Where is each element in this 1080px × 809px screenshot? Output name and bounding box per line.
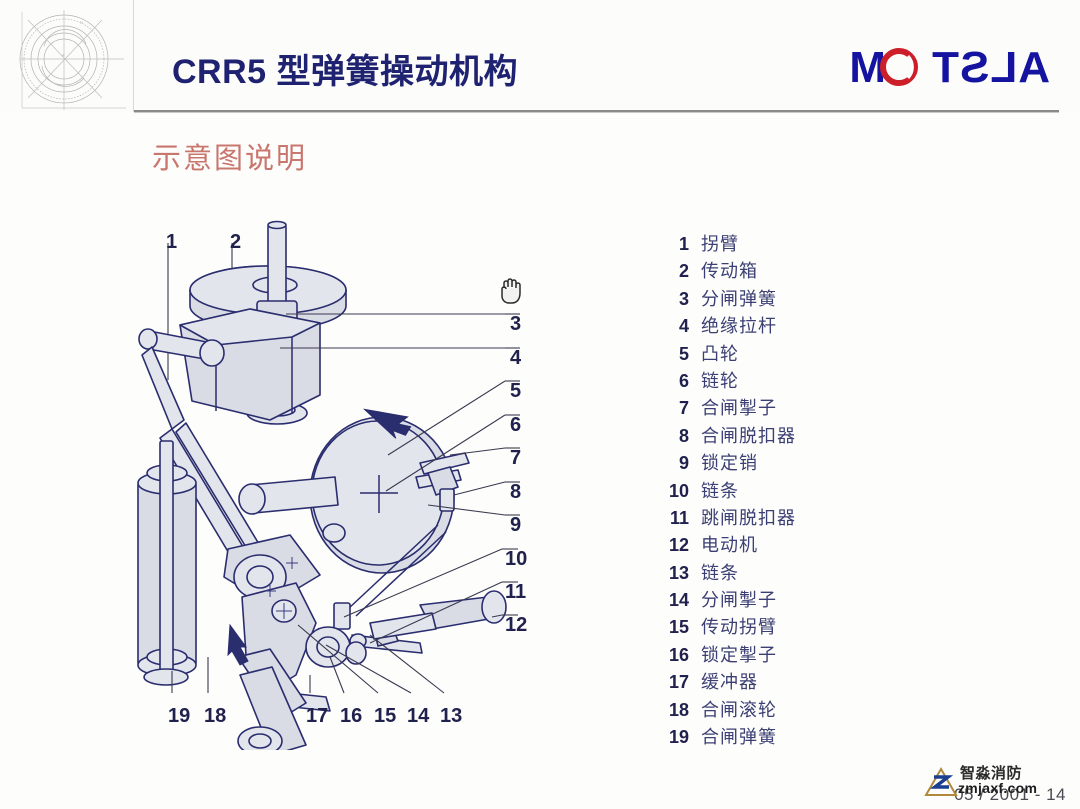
legend-label: 链条 bbox=[701, 477, 739, 503]
header-divider bbox=[134, 110, 1059, 113]
legend-number: 4 bbox=[655, 316, 689, 337]
callout-19: 19 bbox=[168, 706, 190, 726]
legend-label: 分闸掣子 bbox=[701, 586, 777, 612]
part-motor bbox=[370, 591, 506, 639]
legend-number: 1 bbox=[655, 234, 689, 255]
legend-number: 16 bbox=[655, 645, 689, 666]
callout-11: 11 bbox=[505, 582, 526, 602]
callout-2: 2 bbox=[230, 232, 241, 252]
legend-label: 电动机 bbox=[701, 531, 758, 557]
mechanism-diagram: .pc { fill:#d9dbe5; stroke:#2a2d6e; stro… bbox=[120, 205, 660, 750]
legend-number: 5 bbox=[655, 344, 689, 365]
legend-label: 合闸掣子 bbox=[701, 394, 777, 420]
legend-label: 凸轮 bbox=[701, 340, 739, 366]
legend-item-3: 3 分闸弹簧 bbox=[655, 285, 915, 312]
legend-item-8: 8 合闸脱扣器 bbox=[655, 422, 915, 449]
callout-13: 13 bbox=[440, 706, 462, 726]
legend-label: 链轮 bbox=[701, 367, 739, 393]
title-rest: 型弹簧操动机构 bbox=[267, 53, 518, 91]
part-closing-spring-cylinder bbox=[138, 441, 196, 685]
legend-item-11: 11 跳闸脱扣器 bbox=[655, 504, 915, 531]
legend-label: 合闸脱扣器 bbox=[701, 422, 796, 448]
callout-8: 8 bbox=[510, 482, 521, 502]
legend-label: 绝缘拉杆 bbox=[701, 312, 777, 338]
callout-3: 3 bbox=[510, 314, 521, 334]
legend-item-18: 18 合闸滚轮 bbox=[655, 696, 915, 723]
callout-14: 14 bbox=[407, 706, 429, 726]
section-subtitle: 示意图说明 bbox=[152, 135, 307, 177]
slide-root: R ø CRR5 型弹簧操动机构 ALST M 示意图说明 .pc { fill… bbox=[0, 0, 1080, 809]
legend-number: 12 bbox=[655, 535, 689, 556]
callout-12: 12 bbox=[505, 615, 527, 635]
callout-4: 4 bbox=[510, 348, 521, 368]
callout-6: 6 bbox=[510, 415, 521, 435]
callout-18: 18 bbox=[204, 706, 226, 726]
legend-number: 10 bbox=[655, 481, 689, 502]
legend-number: 17 bbox=[655, 672, 689, 693]
callout-10: 10 bbox=[505, 549, 527, 569]
legend-number: 15 bbox=[655, 617, 689, 638]
legend-number: 3 bbox=[655, 289, 689, 310]
svg-text:R: R bbox=[80, 20, 83, 25]
legend-item-1: 1 拐臂 bbox=[655, 230, 915, 257]
mechanism-diagram-svg: .pc { fill:#d9dbe5; stroke:#2a2d6e; stro… bbox=[120, 205, 660, 750]
legend-item-13: 13 链条 bbox=[655, 559, 915, 586]
svg-text:ø: ø bbox=[62, 52, 65, 57]
parts-legend: 1 拐臂 2 传动箱 3 分闸弹簧 4 绝缘拉杆 5 凸轮 6 链轮 7 合闸掣… bbox=[655, 230, 915, 750]
legend-item-16: 16 锁定掣子 bbox=[655, 641, 915, 668]
legend-item-6: 6 链轮 bbox=[655, 367, 915, 394]
legend-number: 8 bbox=[655, 426, 689, 447]
grabbing-hand-cursor-icon bbox=[498, 274, 526, 306]
callout-9: 9 bbox=[510, 515, 521, 535]
site-watermark: 智淼消防 zmjaxf.com bbox=[924, 761, 1072, 801]
technical-circle-drawing-icon: R ø bbox=[6, 4, 134, 116]
callout-16: 16 bbox=[340, 706, 362, 726]
legend-item-15: 15 传动拐臂 bbox=[655, 613, 915, 640]
part-gearbox-body bbox=[180, 309, 320, 420]
legend-label: 合闸弹簧 bbox=[701, 723, 777, 749]
legend-number: 18 bbox=[655, 700, 689, 721]
legend-item-4: 4 绝缘拉杆 bbox=[655, 312, 915, 339]
alstom-logo: ALST M bbox=[804, 38, 1054, 96]
legend-label: 传动箱 bbox=[701, 257, 758, 283]
legend-label: 传动拐臂 bbox=[701, 613, 777, 639]
legend-label: 缓冲器 bbox=[701, 668, 758, 694]
legend-item-14: 14 分闸掣子 bbox=[655, 586, 915, 613]
legend-label: 链条 bbox=[701, 559, 739, 585]
legend-label: 锁定掣子 bbox=[701, 641, 777, 667]
legend-item-2: 2 传动箱 bbox=[655, 257, 915, 284]
callout-15: 15 bbox=[374, 706, 396, 726]
legend-number: 14 bbox=[655, 590, 689, 611]
legend-label: 跳闸脱扣器 bbox=[701, 504, 796, 530]
legend-item-9: 9 锁定销 bbox=[655, 449, 915, 476]
callout-5: 5 bbox=[510, 381, 521, 401]
legend-number: 9 bbox=[655, 453, 689, 474]
callout-17: 17 bbox=[306, 706, 328, 726]
legend-item-17: 17 缓冲器 bbox=[655, 668, 915, 695]
legend-number: 6 bbox=[655, 371, 689, 392]
legend-label: 锁定销 bbox=[701, 449, 758, 475]
legend-item-5: 5 凸轮 bbox=[655, 340, 915, 367]
watermark-url: zmjaxf.com bbox=[958, 780, 1037, 796]
callout-1: 1 bbox=[166, 232, 177, 252]
legend-label: 拐臂 bbox=[701, 230, 739, 256]
legend-item-19: 19 合闸弹簧 bbox=[655, 723, 915, 750]
legend-number: 7 bbox=[655, 398, 689, 419]
legend-item-12: 12 电动机 bbox=[655, 531, 915, 558]
legend-number: 2 bbox=[655, 261, 689, 282]
legend-number: 13 bbox=[655, 563, 689, 584]
legend-number: 19 bbox=[655, 727, 689, 748]
slide-header: R ø CRR5 型弹簧操动机构 ALST M bbox=[0, 0, 1080, 112]
legend-label: 分闸弹簧 bbox=[701, 285, 777, 311]
title-model: CRR5 bbox=[172, 53, 267, 91]
svg-text:ALST: ALST bbox=[931, 43, 1050, 92]
legend-number: 11 bbox=[655, 508, 689, 529]
page-title: CRR5 型弹簧操动机构 bbox=[172, 44, 518, 93]
watermark-logo-icon bbox=[924, 767, 958, 797]
legend-label: 合闸滚轮 bbox=[701, 696, 777, 722]
legend-item-10: 10 链条 bbox=[655, 477, 915, 504]
legend-item-7: 7 合闸掣子 bbox=[655, 394, 915, 421]
callout-7: 7 bbox=[510, 448, 521, 468]
